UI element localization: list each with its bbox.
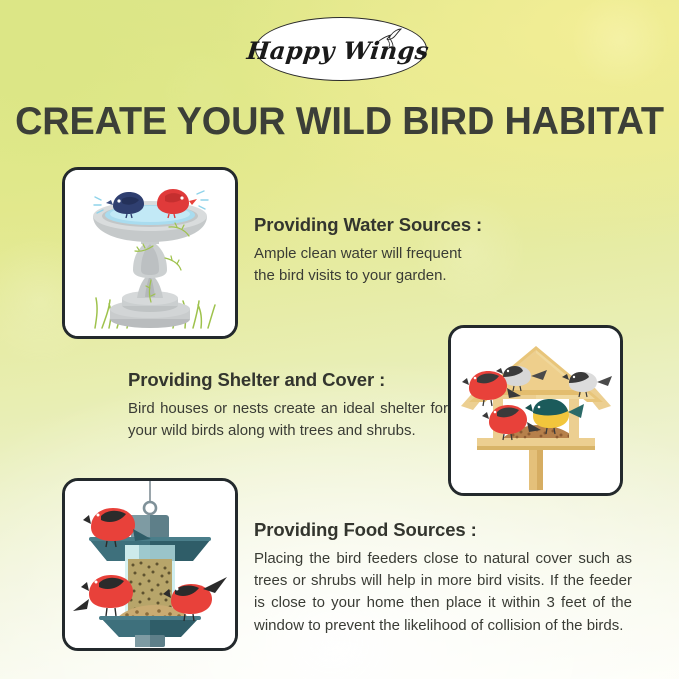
section-food-body: Placing the bird feeders close to natura… xyxy=(254,548,632,637)
birdbath-svg xyxy=(65,170,235,336)
section-shelter-heading: Providing Shelter and Cover : xyxy=(128,369,448,391)
section-water-body: Ample clean water will frequent the bird… xyxy=(254,243,484,287)
brand-logo: Happy Wings xyxy=(255,17,427,81)
birdhouse-svg xyxy=(451,328,620,493)
section-shelter: Providing Shelter and Cover : Bird house… xyxy=(128,369,448,442)
section-food-heading: Providing Food Sources : xyxy=(254,519,632,541)
birdbath-illustration xyxy=(62,167,238,339)
feeder-svg xyxy=(65,481,235,648)
tube-feeder-illustration xyxy=(62,478,238,651)
birdhouse-illustration xyxy=(448,325,623,496)
section-water-heading: Providing Water Sources : xyxy=(254,214,484,236)
page-title: CREATE YOUR WILD BIRD HABITAT xyxy=(5,100,674,144)
infographic-page: Happy Wings CREATE YOUR WILD BIRD HABITA… xyxy=(0,0,679,679)
section-shelter-body: Bird houses or nests create an ideal she… xyxy=(128,398,448,442)
section-water: Providing Water Sources : Ample clean wa… xyxy=(254,214,484,287)
hummingbird-icon xyxy=(376,28,402,48)
section-food: Providing Food Sources : Placing the bir… xyxy=(254,519,632,637)
brand-name: Happy Wings xyxy=(246,36,431,65)
